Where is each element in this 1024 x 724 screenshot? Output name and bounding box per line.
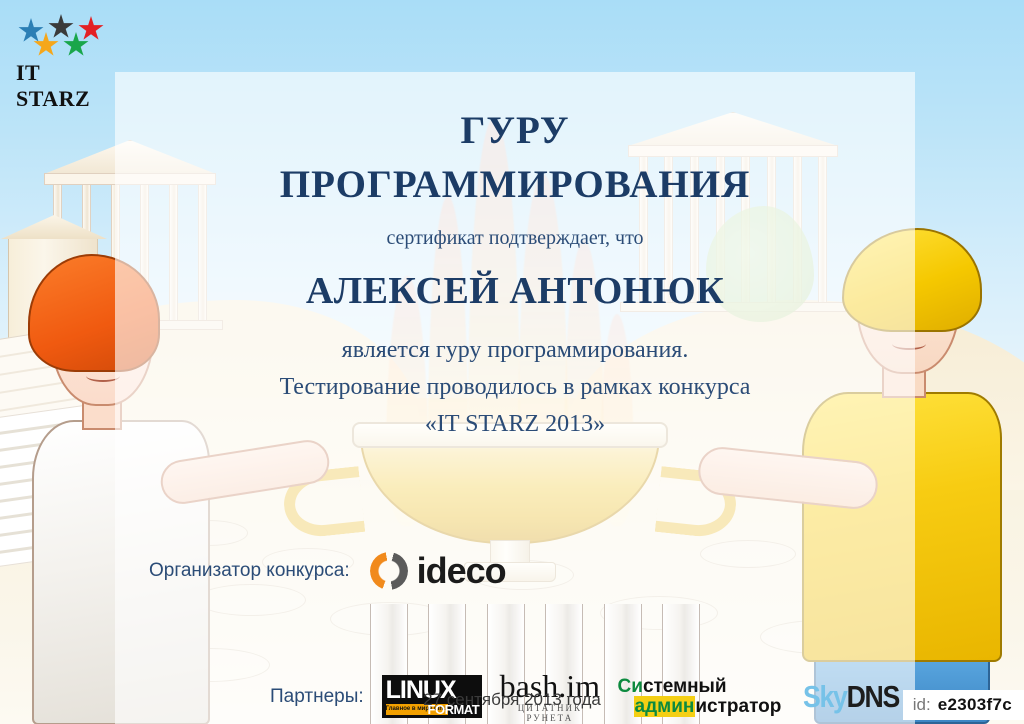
ideco-wordmark: ideco bbox=[417, 550, 506, 592]
logo-stars bbox=[16, 14, 112, 58]
organizer-row: Организатор конкурса: ideco bbox=[149, 550, 669, 592]
certificate-title: ГУРУ ПРОГРАММИРОВАНИЯ bbox=[115, 104, 915, 212]
title-line-2: ПРОГРАММИРОВАНИЯ bbox=[115, 158, 915, 212]
certificate-content: ГУРУ ПРОГРАММИРОВАНИЯ сертификат подтвер… bbox=[115, 72, 915, 724]
id-label: id: bbox=[913, 695, 931, 715]
ideco-swirl-icon bbox=[370, 552, 408, 590]
star-icon-blue bbox=[18, 18, 44, 44]
title-line-1: ГУРУ bbox=[115, 104, 915, 158]
certificate-canvas: IT STARZ ГУРУ ПРОГРАММИРОВАНИЯ сертифика… bbox=[0, 0, 1024, 724]
certificate-date: 27 сентября 2013 года bbox=[0, 690, 1024, 710]
body-line-2: Тестирование проводилось в рамках конкур… bbox=[115, 369, 915, 406]
ideco-logo: ideco bbox=[370, 550, 506, 592]
star-icon-red bbox=[78, 16, 104, 42]
id-value: e2303f7c bbox=[938, 695, 1012, 715]
body-line-1: является гуру программирования. bbox=[115, 332, 915, 369]
certificate-subtitle: сертификат подтверждает, что bbox=[115, 227, 915, 250]
id-badge: id: e2303f7c bbox=[903, 690, 1024, 720]
star-icon-dark bbox=[48, 14, 74, 40]
certificate-body: является гуру программирования. Тестиров… bbox=[115, 332, 915, 443]
organizer-label: Организатор конкурса: bbox=[149, 560, 350, 582]
recipient-name: АЛЕКСЕЙ АНТОНЮК bbox=[115, 269, 915, 313]
logo-wordmark: IT STARZ bbox=[16, 60, 112, 112]
it-starz-logo: IT STARZ bbox=[16, 14, 112, 92]
body-line-3: «IT STARZ 2013» bbox=[115, 406, 915, 443]
